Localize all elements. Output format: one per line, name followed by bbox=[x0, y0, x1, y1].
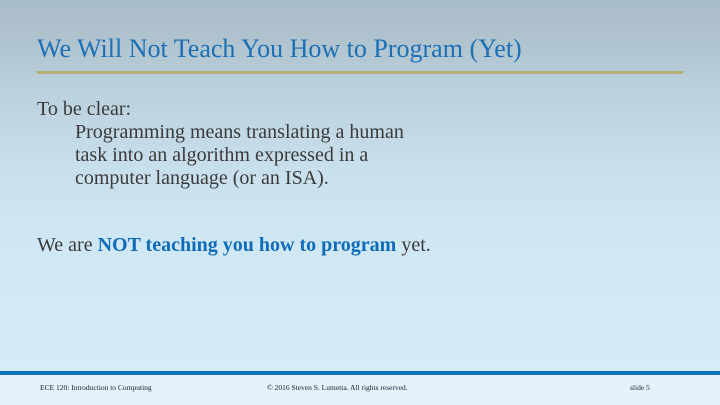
slide-canvas: We Will Not Teach You How to Program (Ye… bbox=[0, 0, 720, 405]
footer-slide-number: slide 5 bbox=[630, 383, 650, 393]
footer-course-label: ECE 120: Introduction to Computing bbox=[40, 383, 152, 393]
body-definition-line-3: computer language (or an ISA). bbox=[75, 167, 495, 190]
body-spacer bbox=[37, 190, 637, 234]
body-closing-line: We are NOT teaching you how to program y… bbox=[37, 234, 507, 257]
slide-body: To be clear: Programming means translati… bbox=[37, 97, 637, 257]
body-definition-line-2: task into an algorithm expressed in a bbox=[75, 144, 495, 167]
body-intro-line: To be clear: bbox=[37, 97, 637, 121]
body-definition-line-1: Programming means translating a human bbox=[75, 121, 495, 144]
closing-prefix: We are bbox=[37, 234, 98, 256]
closing-emphasis: NOT teaching you how to program bbox=[98, 234, 397, 256]
footer-row: ECE 120: Introduction to Computing © 201… bbox=[0, 383, 720, 397]
closing-suffix: yet. bbox=[396, 234, 430, 256]
title-block: We Will Not Teach You How to Program (Ye… bbox=[37, 34, 685, 64]
footer-copyright-label: © 2016 Steven S. Lumetta. All rights res… bbox=[267, 383, 408, 393]
page-title: We Will Not Teach You How to Program (Ye… bbox=[37, 34, 685, 64]
title-divider bbox=[37, 71, 683, 74]
